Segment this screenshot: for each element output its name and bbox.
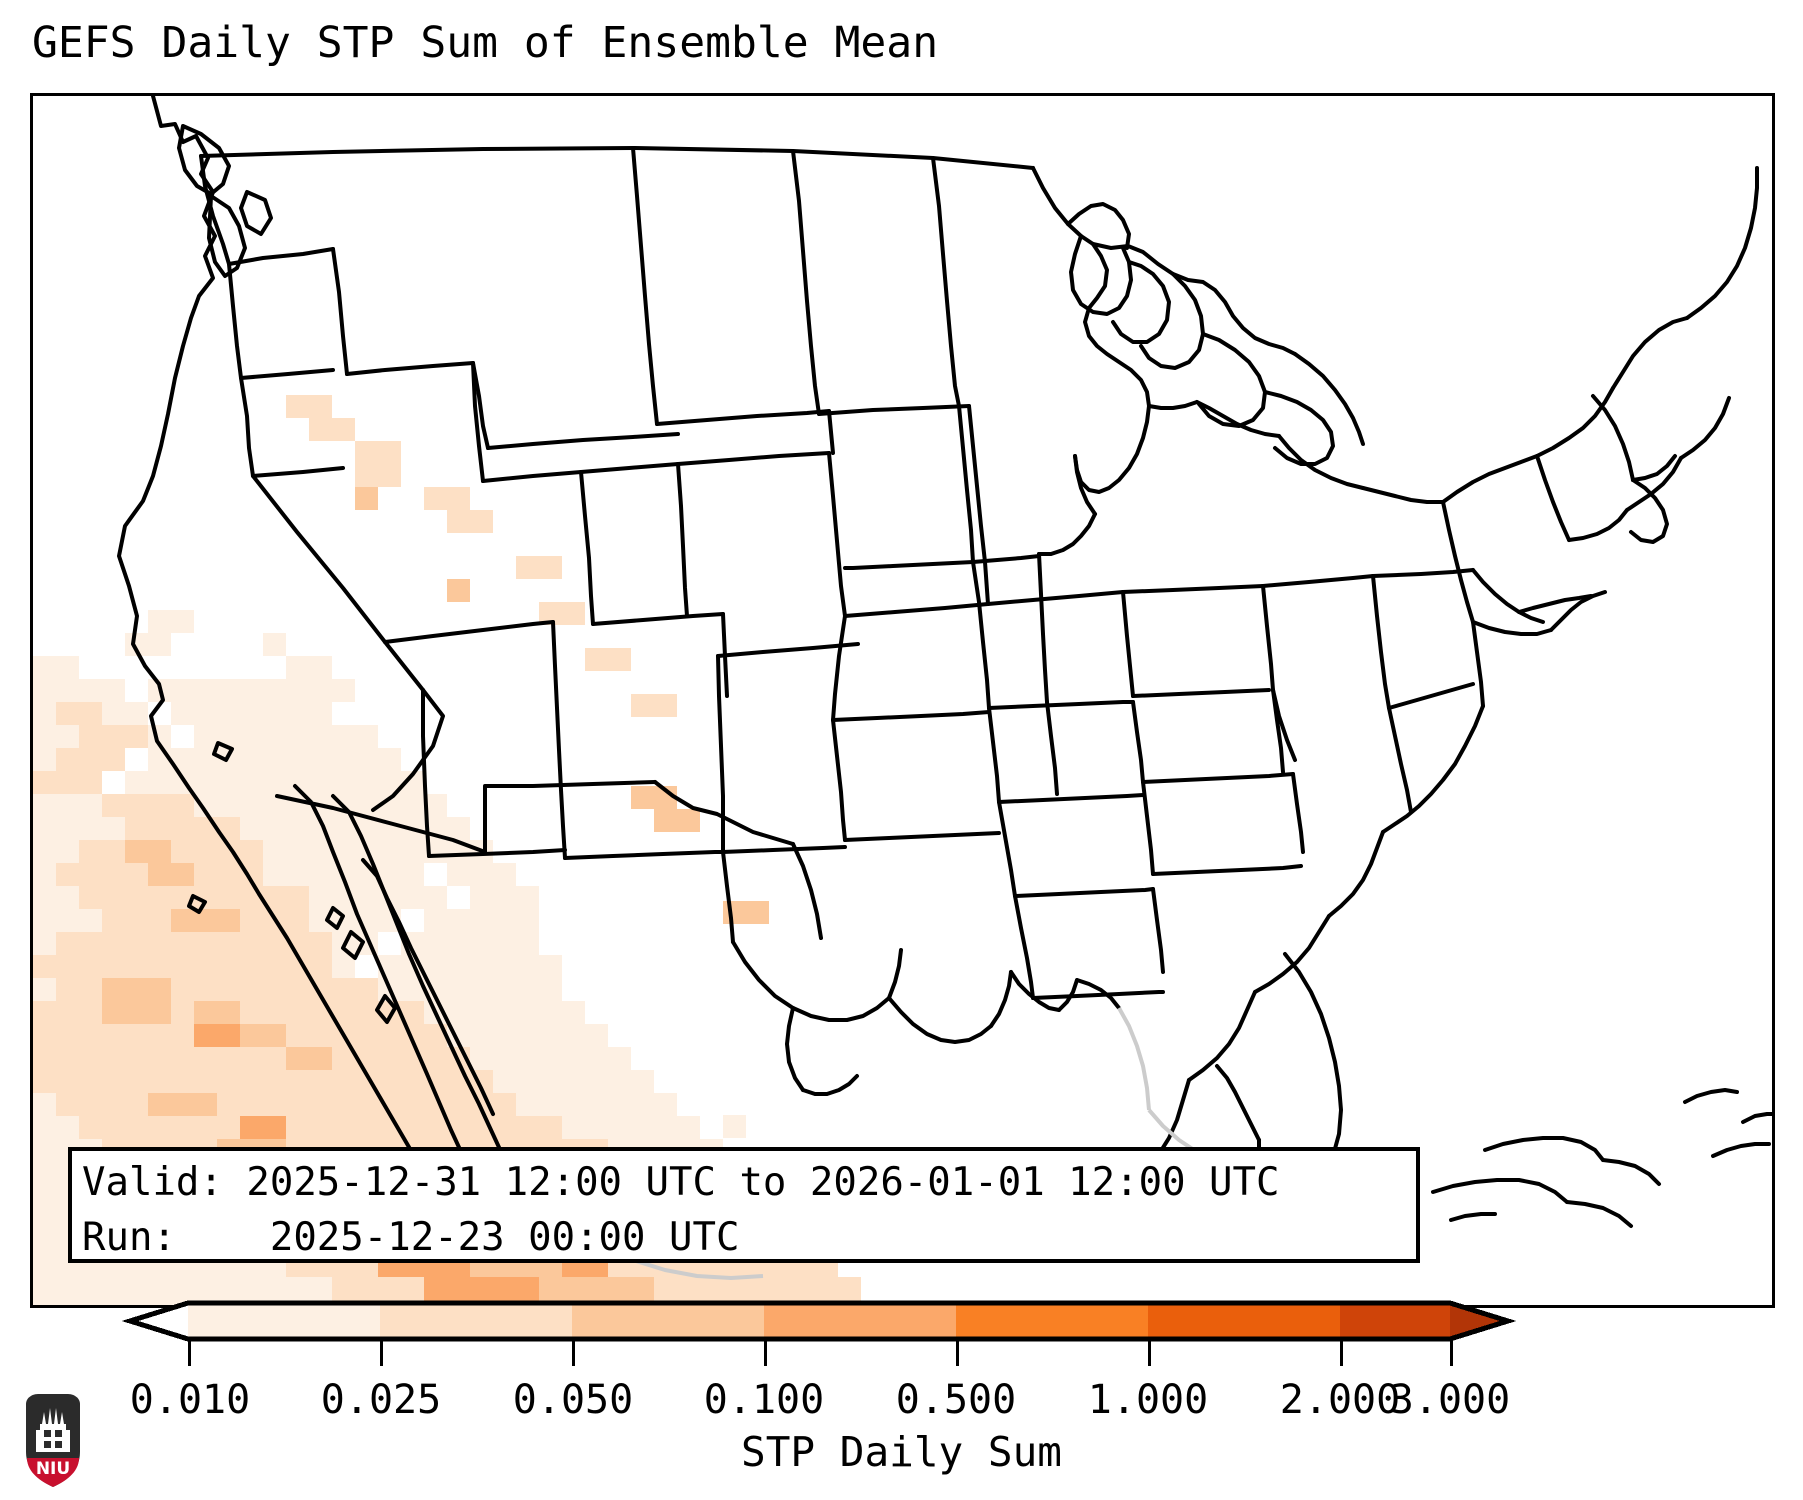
colorbar[interactable] [60,1300,1540,1360]
page-title: GEFS Daily STP Sum of Ensemble Mean [32,18,938,68]
colorbar-tick [1148,1340,1151,1366]
colorbar-tick-label: 0.025 [321,1378,441,1422]
valid-run-info-box: Valid: 2025-12-31 12:00 UTC to 2026-01-0… [68,1147,1420,1263]
colorbar-tick [764,1340,767,1366]
colorbar-axis-label: STP Daily Sum [0,1428,1803,1476]
valid-time-line: Valid: 2025-12-31 12:00 UTC to 2026-01-0… [82,1155,1416,1210]
colorbar-tick-label: 0.050 [513,1378,633,1422]
colorbar-ticks [60,1300,1540,1360]
map-panel[interactable]: Valid: 2025-12-31 12:00 UTC to 2026-01-0… [30,93,1775,1308]
colorbar-tick [1340,1340,1343,1366]
colorbar-tick [572,1340,575,1366]
niu-logo: NIU [18,1390,88,1490]
colorbar-tick [188,1340,191,1366]
colorbar-tick [380,1340,383,1366]
colorbar-tick [956,1340,959,1366]
colorbar-tick-label: 1.000 [1088,1378,1208,1422]
weather-map-page: GEFS Daily STP Sum of Ensemble Mean [0,0,1803,1500]
colorbar-tick-label: 0.010 [130,1378,250,1422]
colorbar-tick-label: 0.100 [704,1378,824,1422]
mexico-coast-layer [33,96,1772,1305]
colorbar-tick [1450,1340,1453,1366]
colorbar-tick-label: 3.000 [1390,1378,1510,1422]
niu-logo-text: NIU [36,1459,70,1479]
run-time-line: Run: 2025-12-23 00:00 UTC [82,1210,1416,1265]
colorbar-tick-label: 2.000 [1280,1378,1400,1422]
colorbar-tick-labels: 0.010 0.025 0.050 0.100 0.500 1.000 2.00… [0,1378,1803,1426]
niu-shield-icon: NIU [18,1390,88,1490]
colorbar-tick-label: 0.500 [896,1378,1016,1422]
